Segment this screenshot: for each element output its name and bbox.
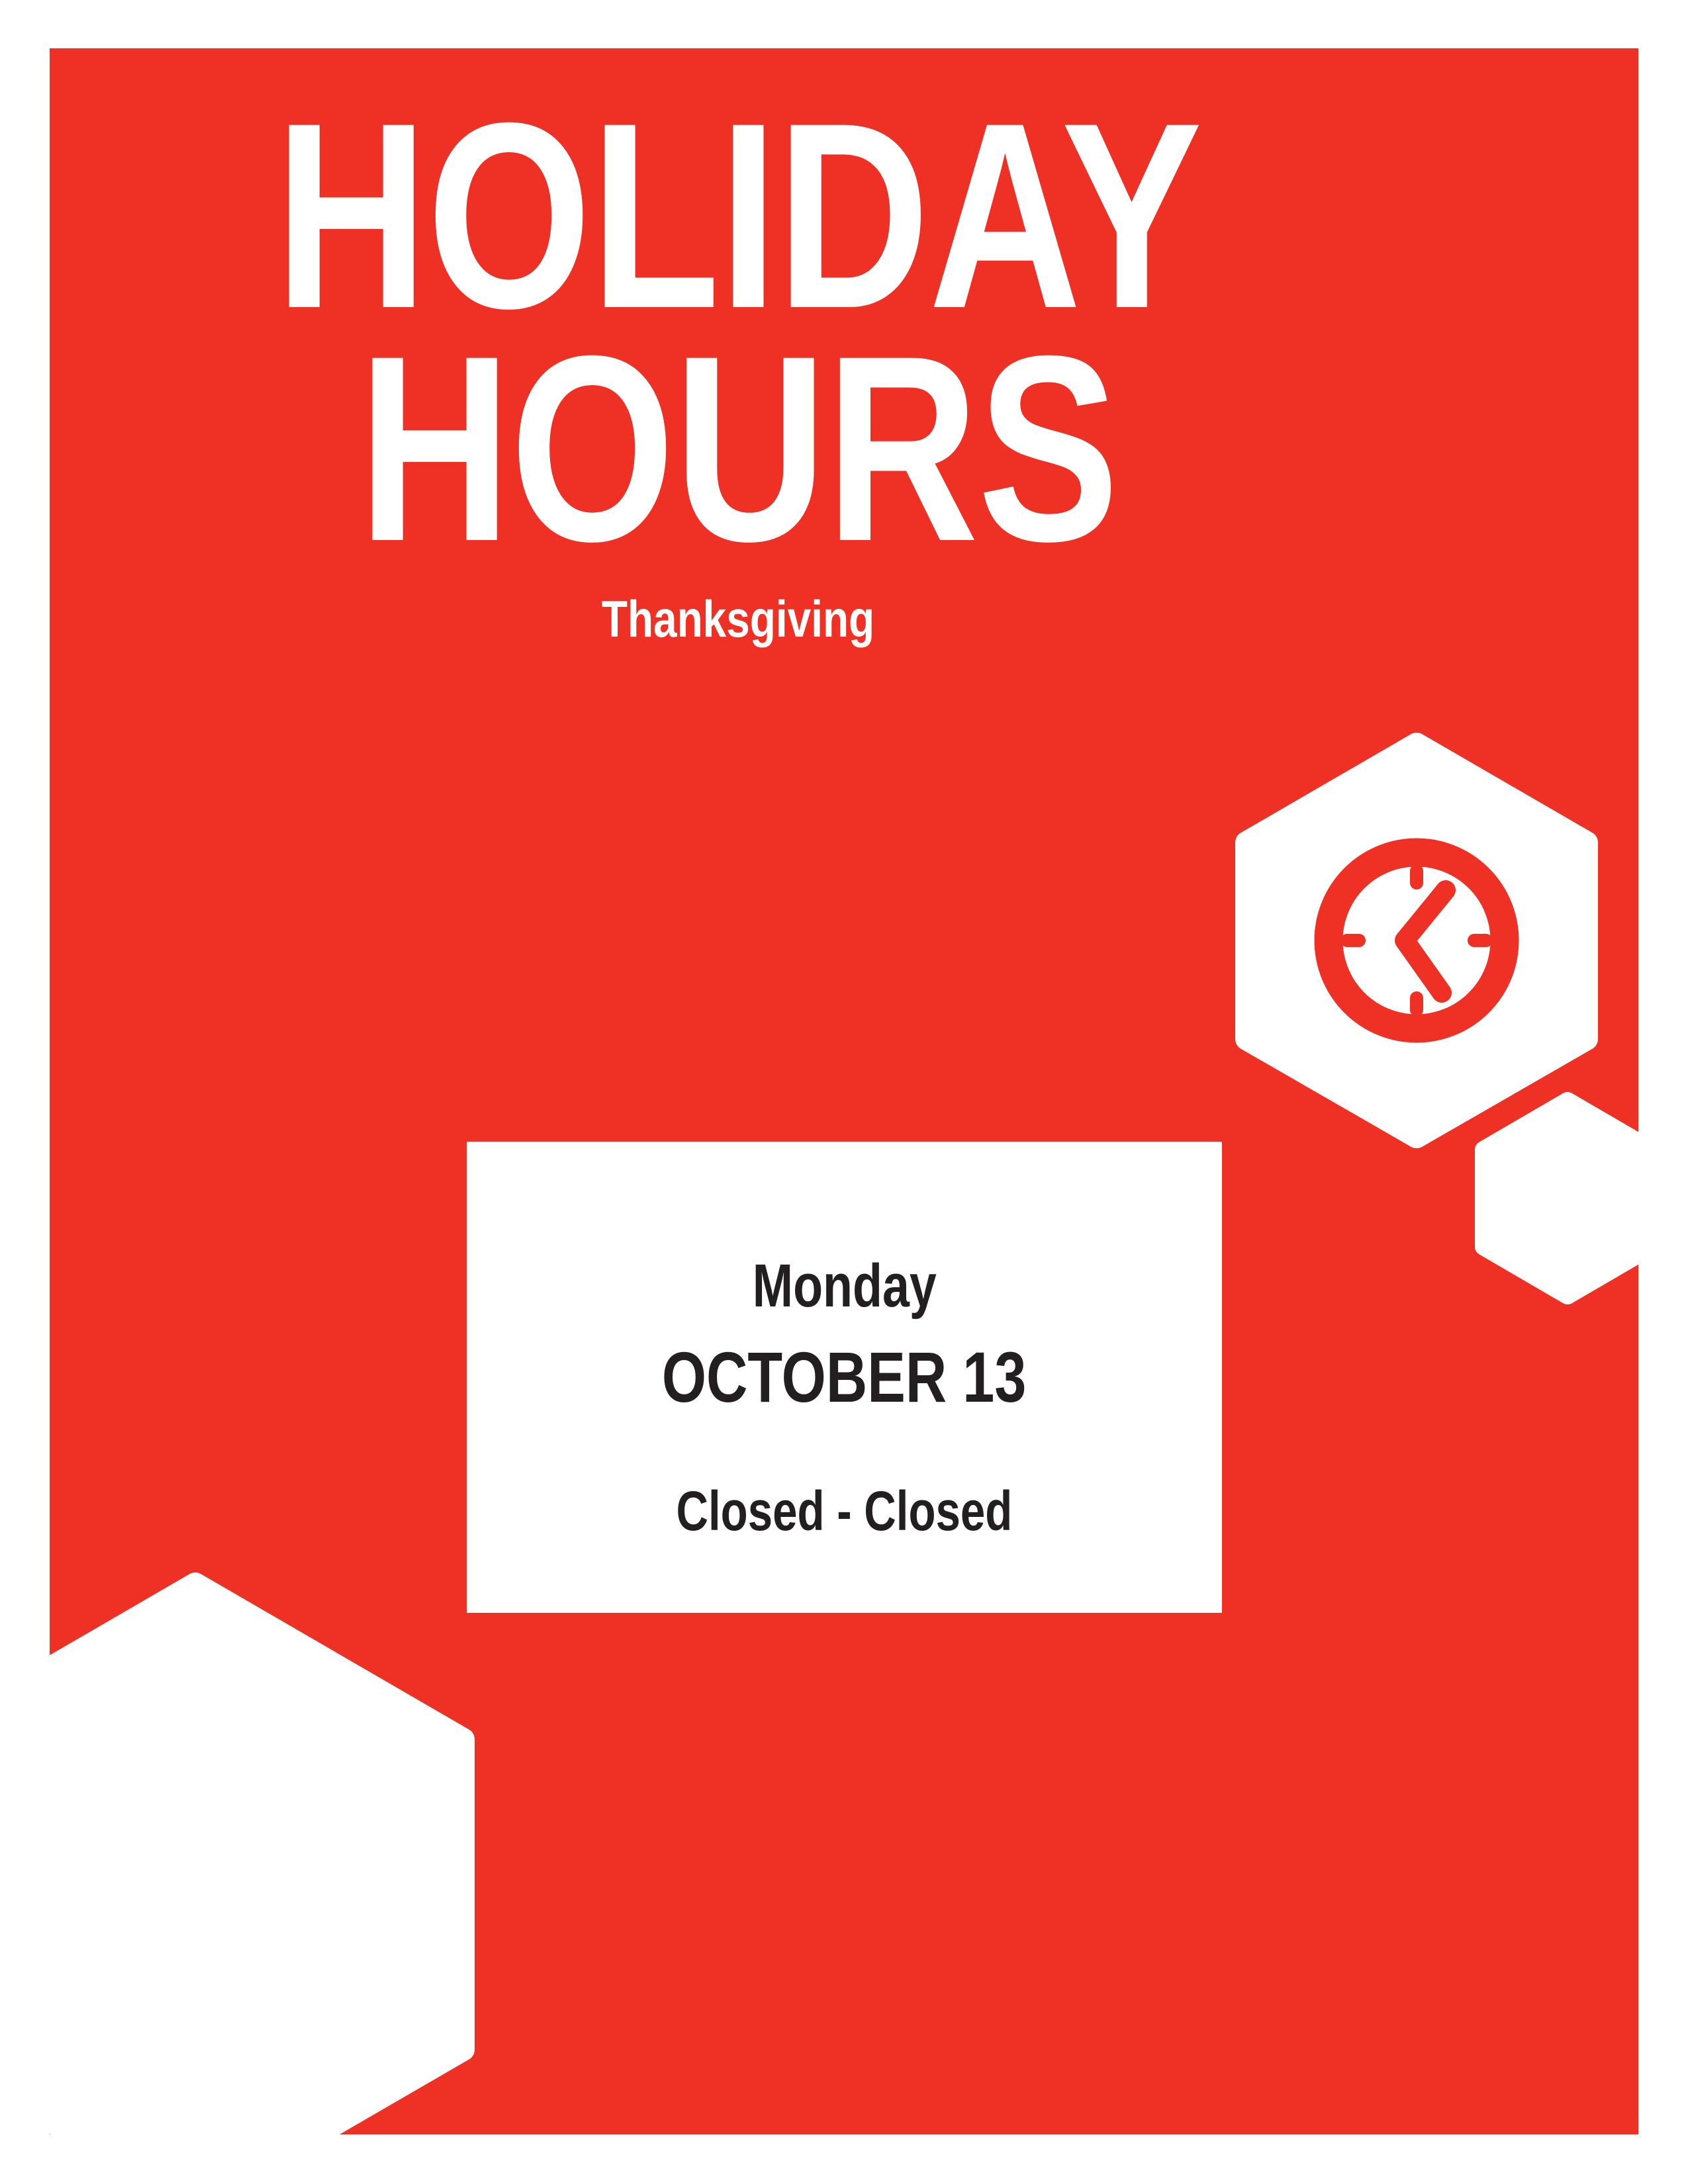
- page-title-line-1: HOLIDAY: [187, 99, 1289, 332]
- page-title-line-2: HOURS: [187, 332, 1289, 565]
- card-hours-label: Closed - Closed: [677, 1483, 1013, 1539]
- headline-block: HOLIDAY HOURS Thanksgiving: [50, 99, 1427, 645]
- card-day-label: Monday: [752, 1255, 936, 1316]
- holiday-info-card: Monday OCTOBER 13 Closed - Closed: [467, 1142, 1222, 1613]
- holiday-hours-poster: HOLIDAY HOURS Thanksgiving Monday OCTOBE…: [0, 0, 1688, 2184]
- page-subtitle: Thanksgiving: [173, 593, 1303, 645]
- card-date-label: OCTOBER 13: [662, 1342, 1027, 1413]
